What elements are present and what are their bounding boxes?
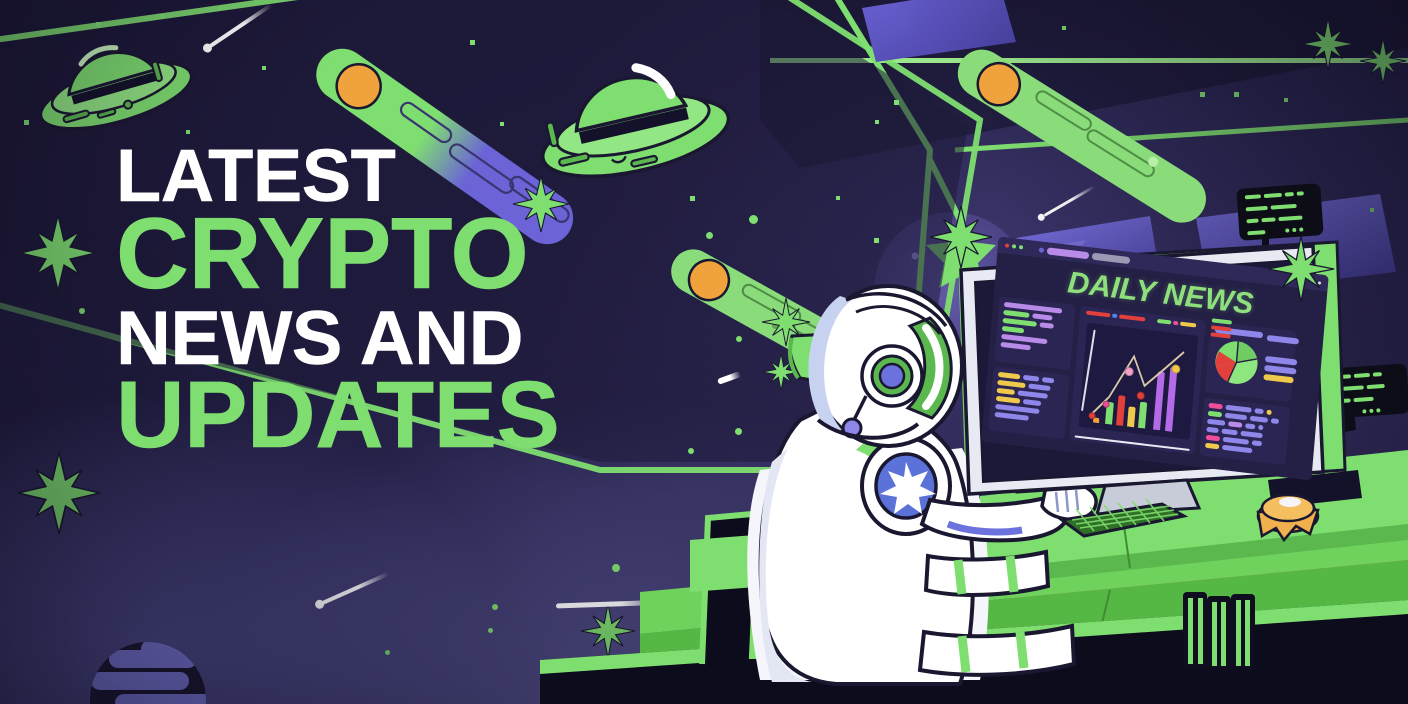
headline-block: LATEST CRYPTO NEWS AND UPDATES bbox=[116, 140, 716, 462]
sparkle-star-icon bbox=[1268, 236, 1334, 302]
headline-line-4: UPDATES bbox=[116, 369, 716, 461]
poster-canvas: LATEST CRYPTO NEWS AND UPDATES bbox=[0, 0, 1408, 704]
headline-line-2: CRYPTO bbox=[116, 206, 716, 304]
